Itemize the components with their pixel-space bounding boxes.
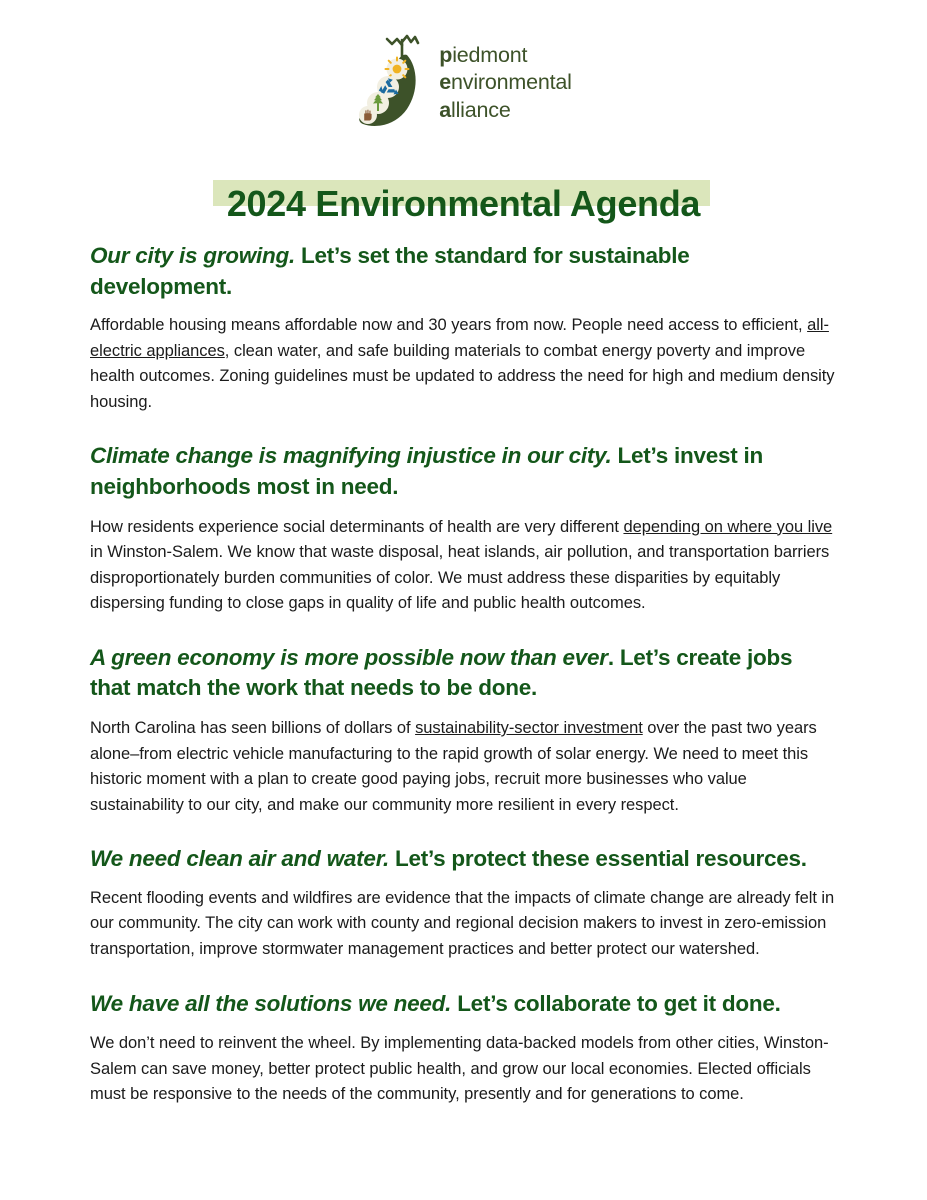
logo-line-piedmont: piedmont xyxy=(439,42,571,69)
logo-wordmark: piedmont environmental alliance xyxy=(439,42,571,123)
logo-line-environmental: environmental xyxy=(439,69,571,96)
body-text-post: in Winston-Salem. We know that waste dis… xyxy=(90,543,829,612)
logo-lead-e: e xyxy=(439,70,451,94)
section-clean-air-and-water: We need clean air and water. Let’s prote… xyxy=(90,844,835,962)
body-text-pre: We don’t need to reinvent the wheel. By … xyxy=(90,1034,829,1103)
section-heading-lede: Climate change is magnifying injustice i… xyxy=(90,443,612,468)
section-heading-lede: We need clean air and water. xyxy=(90,846,389,871)
logo-rest-nvironmental: nvironmental xyxy=(451,70,572,94)
body-link-sustainability-sector-investment[interactable]: sustainability-sector investment xyxy=(415,719,643,737)
section-heading-lede: A green economy is more possible now tha… xyxy=(90,645,608,670)
logo-rest-iedmont: iedmont xyxy=(452,43,527,67)
page-title: 2024 Environmental Agenda xyxy=(227,183,700,222)
section-body: We don’t need to reinvent the wheel. By … xyxy=(90,1031,835,1108)
section-heading: Our city is growing. Let’s set the stand… xyxy=(90,241,835,302)
section-collaborate: We have all the solutions we need. Let’s… xyxy=(90,989,835,1108)
logo-rest-lliance: lliance xyxy=(451,98,511,122)
section-heading-rest: Let’s protect these essential resources. xyxy=(389,846,807,871)
section-heading-rest: Let’s collaborate to get it done. xyxy=(451,991,780,1016)
logo-line-alliance: alliance xyxy=(439,97,571,124)
body-text-pre: Recent flooding events and wildfires are… xyxy=(90,889,834,958)
section-sustainable-development: Our city is growing. Let’s set the stand… xyxy=(90,241,835,415)
section-heading: We have all the solutions we need. Let’s… xyxy=(90,989,835,1020)
document-content: Our city is growing. Let’s set the stand… xyxy=(0,241,927,1108)
section-body: Recent flooding events and wildfires are… xyxy=(90,886,835,963)
section-heading: Climate change is magnifying injustice i… xyxy=(90,441,835,502)
pea-pod-logo-icon xyxy=(355,33,427,133)
body-link-depending-on-where-you-live[interactable]: depending on where you live xyxy=(623,518,832,536)
page-title-container: 2024 Environmental Agenda xyxy=(0,159,927,211)
logo-lead-p: p xyxy=(439,43,452,67)
body-text-pre: How residents experience social determin… xyxy=(90,518,623,536)
section-heading-lede: Our city is growing. xyxy=(90,243,295,268)
section-heading: A green economy is more possible now tha… xyxy=(90,643,835,704)
logo-lead-a: a xyxy=(439,98,451,122)
organization-logo: piedmont environmental alliance xyxy=(0,0,927,133)
body-text-pre: Affordable housing means affordable now … xyxy=(90,316,807,334)
section-heading-lede: We have all the solutions we need. xyxy=(90,991,451,1016)
section-body: How residents experience social determin… xyxy=(90,515,835,617)
section-body: North Carolina has seen billions of doll… xyxy=(90,716,835,818)
section-green-economy: A green economy is more possible now tha… xyxy=(90,643,835,818)
sun-icon xyxy=(393,65,402,74)
section-heading: We need clean air and water. Let’s prote… xyxy=(90,844,835,875)
section-climate-injustice: Climate change is magnifying injustice i… xyxy=(90,441,835,616)
section-body: Affordable housing means affordable now … xyxy=(90,313,835,415)
body-text-pre: North Carolina has seen billions of doll… xyxy=(90,719,415,737)
